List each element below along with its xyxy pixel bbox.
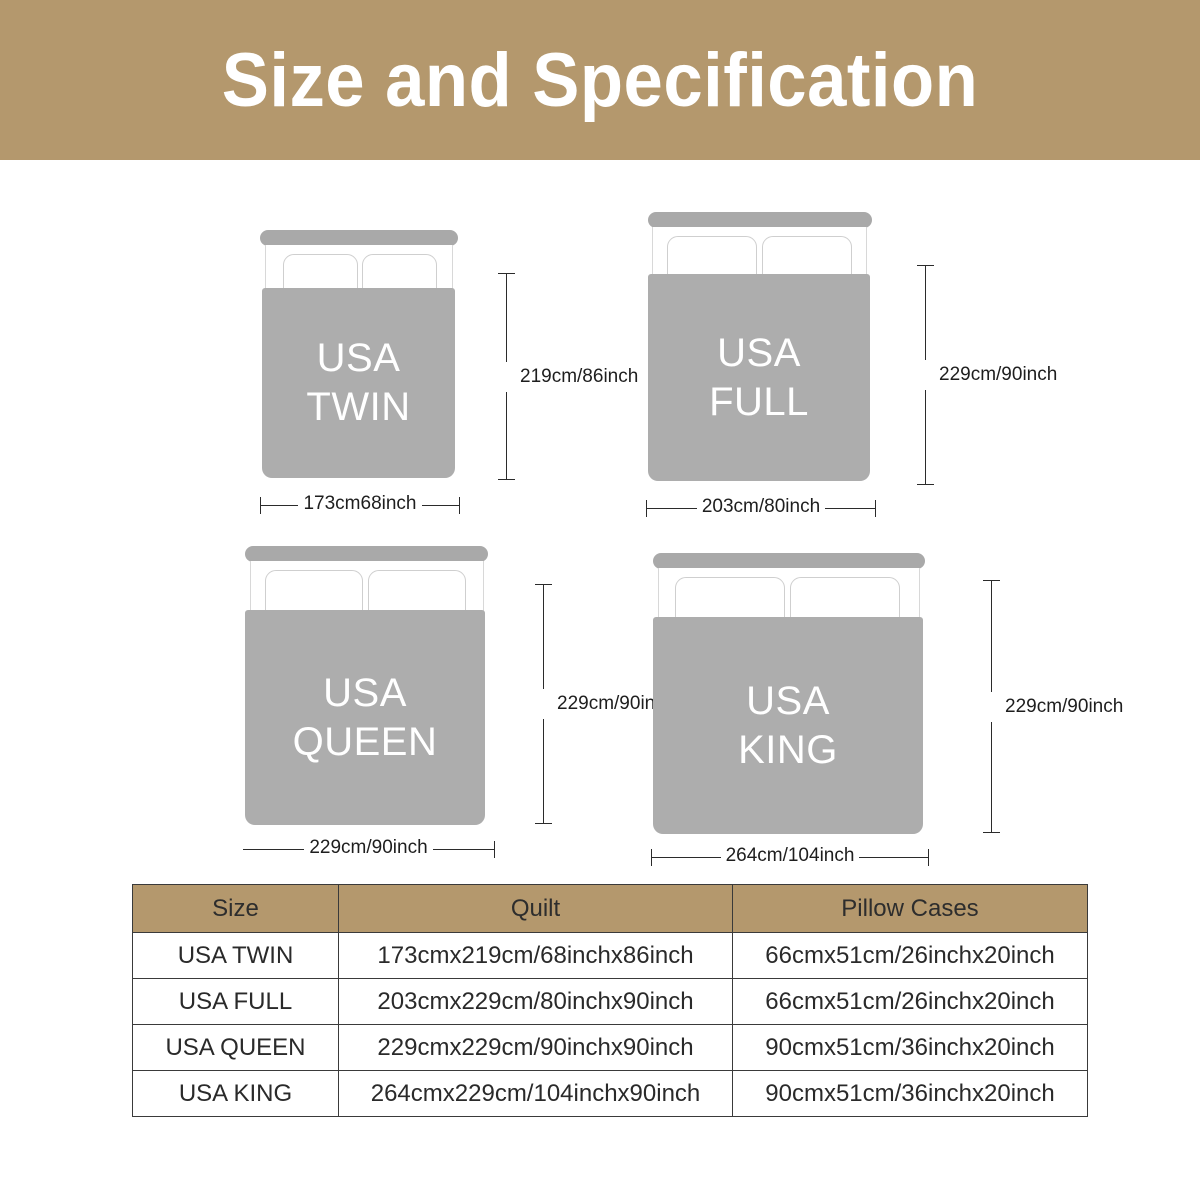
dimension-width-label: 173cm68inch [298, 493, 421, 515]
dimension-height-label: 219cm/86inch [520, 366, 638, 388]
dimension-width-twin: 173cm68inch [260, 494, 460, 516]
dim-rule-right [433, 849, 494, 850]
bed-label-line2: TWIN [306, 383, 410, 432]
cell-pillow: 90cmx51cm/36inchx20inch [733, 1025, 1088, 1071]
cell-pillow: 66cmx51cm/26inchx20inch [733, 933, 1088, 979]
cell-quilt: 229cmx229cm/90inchx90inch [339, 1025, 733, 1071]
cell-quilt: 203cmx229cm/80inchx90inch [339, 979, 733, 1025]
dim-stem-lower [925, 390, 926, 484]
headboard [648, 212, 872, 228]
table-row: USA FULL 203cmx229cm/80inchx90inch 66cmx… [133, 979, 1088, 1025]
dimension-height-queen: 229cm/90inch [535, 584, 552, 824]
bed-illustration-full: USA FULL [645, 212, 875, 492]
dim-rule-right [422, 505, 459, 506]
headboard [653, 553, 925, 569]
size-specification-page: Size and Specification USA TWIN 219cm/86… [0, 0, 1200, 1197]
cell-pillow: 66cmx51cm/26inchx20inch [733, 979, 1088, 1025]
cell-quilt: 173cmx219cm/68inchx86inch [339, 933, 733, 979]
cell-size: USA FULL [133, 979, 339, 1025]
dimension-height-twin: 219cm/86inch [498, 273, 515, 480]
bed-label-line2: KING [738, 726, 838, 775]
column-header-pillow-cases: Pillow Cases [733, 885, 1088, 933]
dim-stem-upper [543, 585, 544, 689]
table-row: USA KING 264cmx229cm/104inchx90inch 90cm… [133, 1071, 1088, 1117]
table-header-row: Size Quilt Pillow Cases [133, 885, 1088, 933]
quilt-area: USA FULL [648, 274, 870, 481]
dimension-width-label: 229cm/90inch [304, 837, 432, 859]
dimension-width-full: 203cm/80inch [646, 497, 876, 519]
specification-table: Size Quilt Pillow Cases USA TWIN 173cmx2… [132, 884, 1088, 1117]
dimension-width-label: 264cm/104inch [721, 845, 860, 867]
dimension-height-label: 229cm/90inch [1005, 696, 1123, 718]
bed-label-line1: USA [746, 677, 830, 726]
dim-cap-right [928, 849, 929, 866]
dimension-height-king: 229cm/90inch [983, 580, 1000, 833]
bed-diagram-usa-full: USA FULL 229cm/90inch 203cm/80inch [645, 212, 1045, 512]
dim-rule-left [243, 849, 304, 850]
dim-stem-lower [506, 392, 507, 480]
page-title: Size and Specification [42, 0, 1158, 160]
column-header-quilt: Quilt [339, 885, 733, 933]
dim-stem-upper [925, 266, 926, 360]
cell-size: USA QUEEN [133, 1025, 339, 1071]
bed-illustration-king: USA KING [650, 553, 928, 843]
dim-stem-lower [543, 719, 544, 823]
headboard [260, 230, 458, 246]
cell-size: USA KING [133, 1071, 339, 1117]
quilt-area: USA KING [653, 617, 923, 834]
headboard [245, 546, 488, 562]
dim-rule-left [261, 505, 298, 506]
dim-cap-bottom [535, 823, 552, 824]
header-banner: Size and Specification [0, 0, 1200, 160]
dim-cap-bottom [983, 832, 1000, 833]
dim-cap-right [494, 841, 495, 858]
dimension-width-king: 264cm/104inch [651, 846, 929, 868]
bed-label-line1: USA [717, 329, 801, 378]
dim-cap-right [875, 500, 876, 517]
dim-rule-right [825, 508, 875, 509]
dim-rule-left [652, 857, 721, 858]
table-row: USA QUEEN 229cmx229cm/90inchx90inch 90cm… [133, 1025, 1088, 1071]
dim-rule-right [859, 857, 928, 858]
dimension-height-label: 229cm/90inch [939, 364, 1057, 386]
dimension-height-full: 229cm/90inch [917, 265, 934, 485]
dim-cap-bottom [498, 479, 515, 480]
quilt-area: USA TWIN [262, 288, 455, 478]
dim-cap-bottom [917, 484, 934, 485]
bed-illustration-queen: USA QUEEN [243, 546, 491, 831]
dim-stem-lower [991, 722, 992, 833]
table-row: USA TWIN 173cmx219cm/68inchx86inch 66cmx… [133, 933, 1088, 979]
dim-cap-right [459, 497, 460, 514]
column-header-size: Size [133, 885, 339, 933]
quilt-area: USA QUEEN [245, 610, 485, 825]
dim-stem-upper [506, 274, 507, 362]
cell-size: USA TWIN [133, 933, 339, 979]
bed-label-line1: USA [323, 669, 407, 718]
dimension-width-label: 203cm/80inch [697, 496, 825, 518]
bed-label-line1: USA [317, 334, 401, 383]
dimension-width-queen: 229cm/90inch [243, 838, 495, 860]
dim-stem-upper [991, 581, 992, 692]
dim-rule-left [647, 508, 697, 509]
cell-quilt: 264cmx229cm/104inchx90inch [339, 1071, 733, 1117]
bed-diagram-usa-queen: USA QUEEN 229cm/90inch 229cm/90inch [243, 546, 643, 846]
bed-label-line2: FULL [709, 378, 809, 427]
bed-diagram-usa-twin: USA TWIN 219cm/86inch 173cm68inch [258, 230, 588, 520]
bed-diagram-usa-king: USA KING 229cm/90inch 264cm/104inch [650, 553, 1090, 858]
cell-pillow: 90cmx51cm/36inchx20inch [733, 1071, 1088, 1117]
bed-illustration-twin: USA TWIN [258, 230, 462, 490]
bed-label-line2: QUEEN [293, 718, 438, 767]
